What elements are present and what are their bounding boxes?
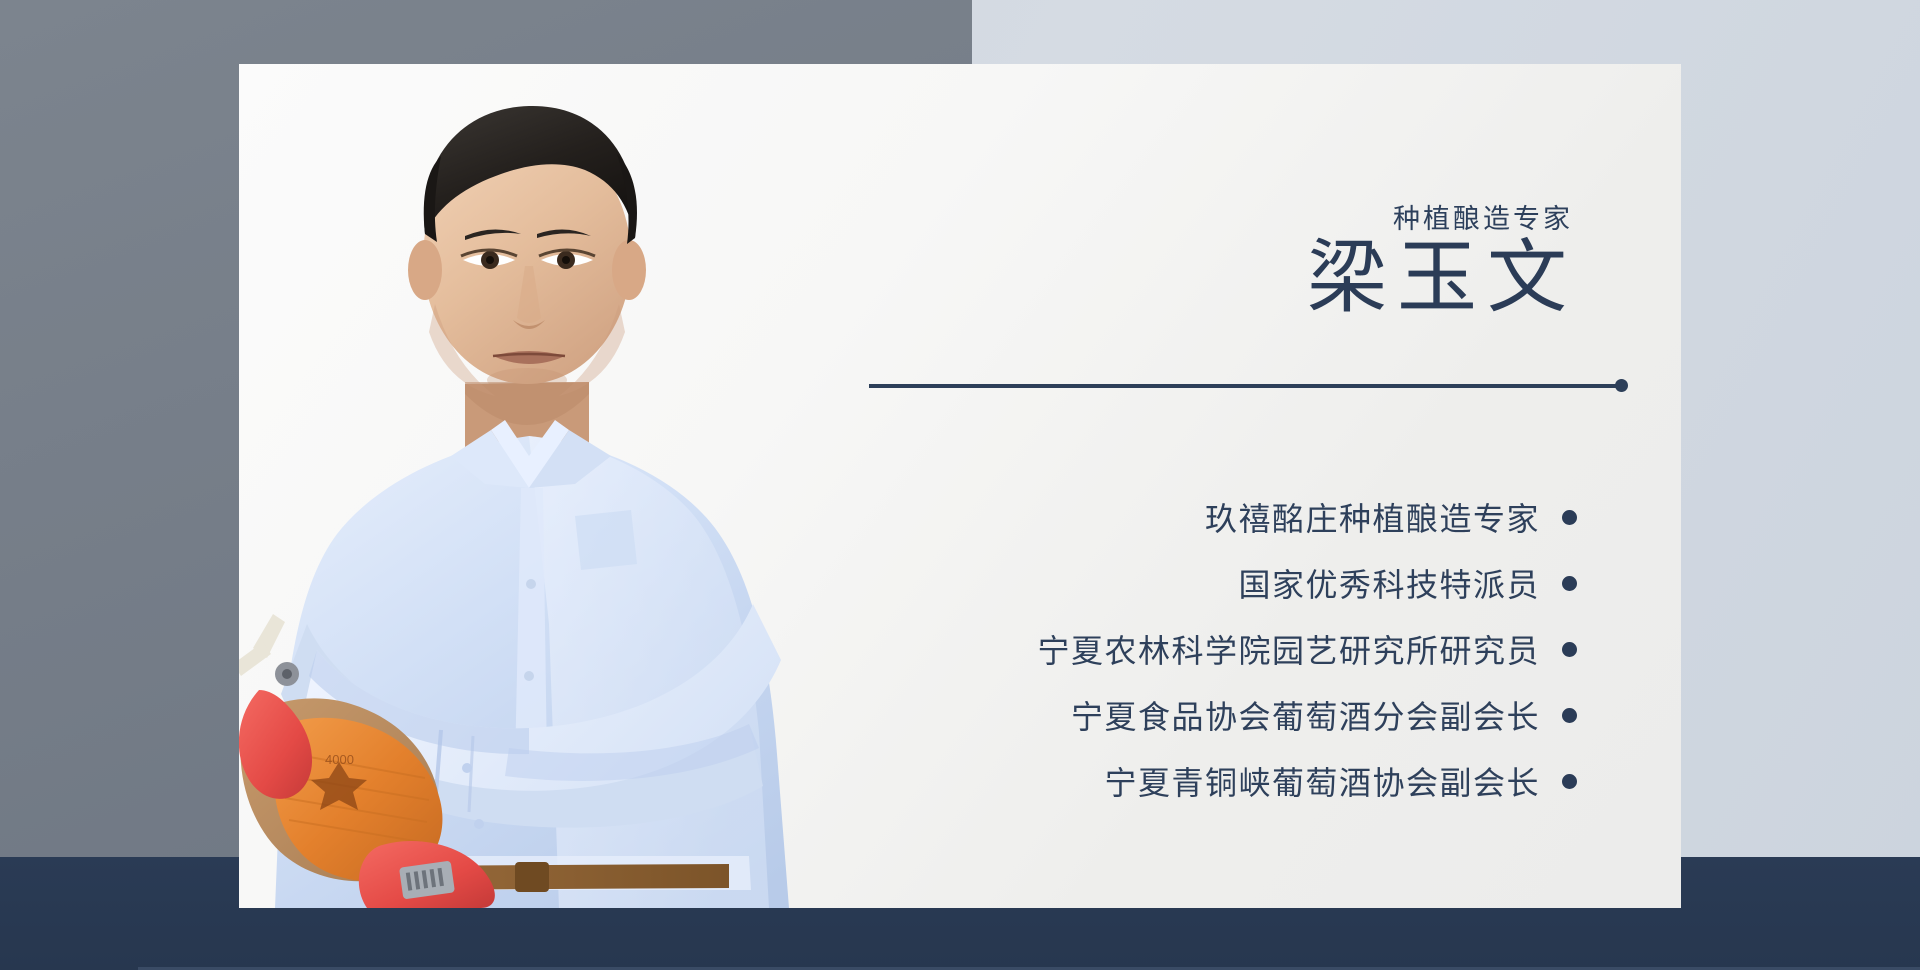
poster-stage: 4000 bbox=[0, 0, 1920, 970]
credential-label: 国家优秀科技特派员 bbox=[1238, 560, 1540, 606]
svg-text:4000: 4000 bbox=[325, 752, 354, 767]
list-item: 宁夏农林科学院园艺研究所研究员 bbox=[1037, 616, 1577, 682]
expert-name: 梁玉文 bbox=[1307, 236, 1577, 322]
credential-label: 宁夏食品协会葡萄酒分会副会长 bbox=[1071, 692, 1540, 738]
role-tag: 种植酿造专家 bbox=[1393, 197, 1573, 236]
credential-label: 宁夏青铜峡葡萄酒协会副会长 bbox=[1104, 758, 1540, 804]
bullet-dot-icon bbox=[1562, 708, 1577, 723]
bullet-dot-icon bbox=[1562, 576, 1577, 591]
credential-label: 玖禧酩庄种植酿造专家 bbox=[1205, 494, 1540, 540]
divider-end-dot-icon bbox=[1615, 379, 1628, 392]
credential-list: 玖禧酩庄种植酿造专家 国家优秀科技特派员 宁夏农林科学院园艺研究所研究员 宁夏食… bbox=[1037, 484, 1577, 814]
bullet-dot-icon bbox=[1562, 510, 1577, 525]
bullet-dot-icon bbox=[1562, 642, 1577, 657]
list-item: 国家优秀科技特派员 bbox=[1037, 550, 1577, 616]
list-item: 宁夏青铜峡葡萄酒协会副会长 bbox=[1037, 748, 1577, 814]
bullet-dot-icon bbox=[1562, 774, 1577, 789]
credential-label: 宁夏农林科学院园艺研究所研究员 bbox=[1037, 626, 1540, 672]
list-item: 宁夏食品协会葡萄酒分会副会长 bbox=[1037, 682, 1577, 748]
list-item: 玖禧酩庄种植酿造专家 bbox=[1037, 484, 1577, 550]
profile-text-column: 种植酿造专家 梁玉文 玖禧酩庄种植酿造专家 国家优秀科技特派员 宁夏农林科学院园… bbox=[939, 64, 1639, 908]
header-divider bbox=[869, 384, 1621, 388]
portrait-photo: 4000 bbox=[239, 64, 869, 908]
profile-card: 4000 bbox=[239, 64, 1681, 908]
